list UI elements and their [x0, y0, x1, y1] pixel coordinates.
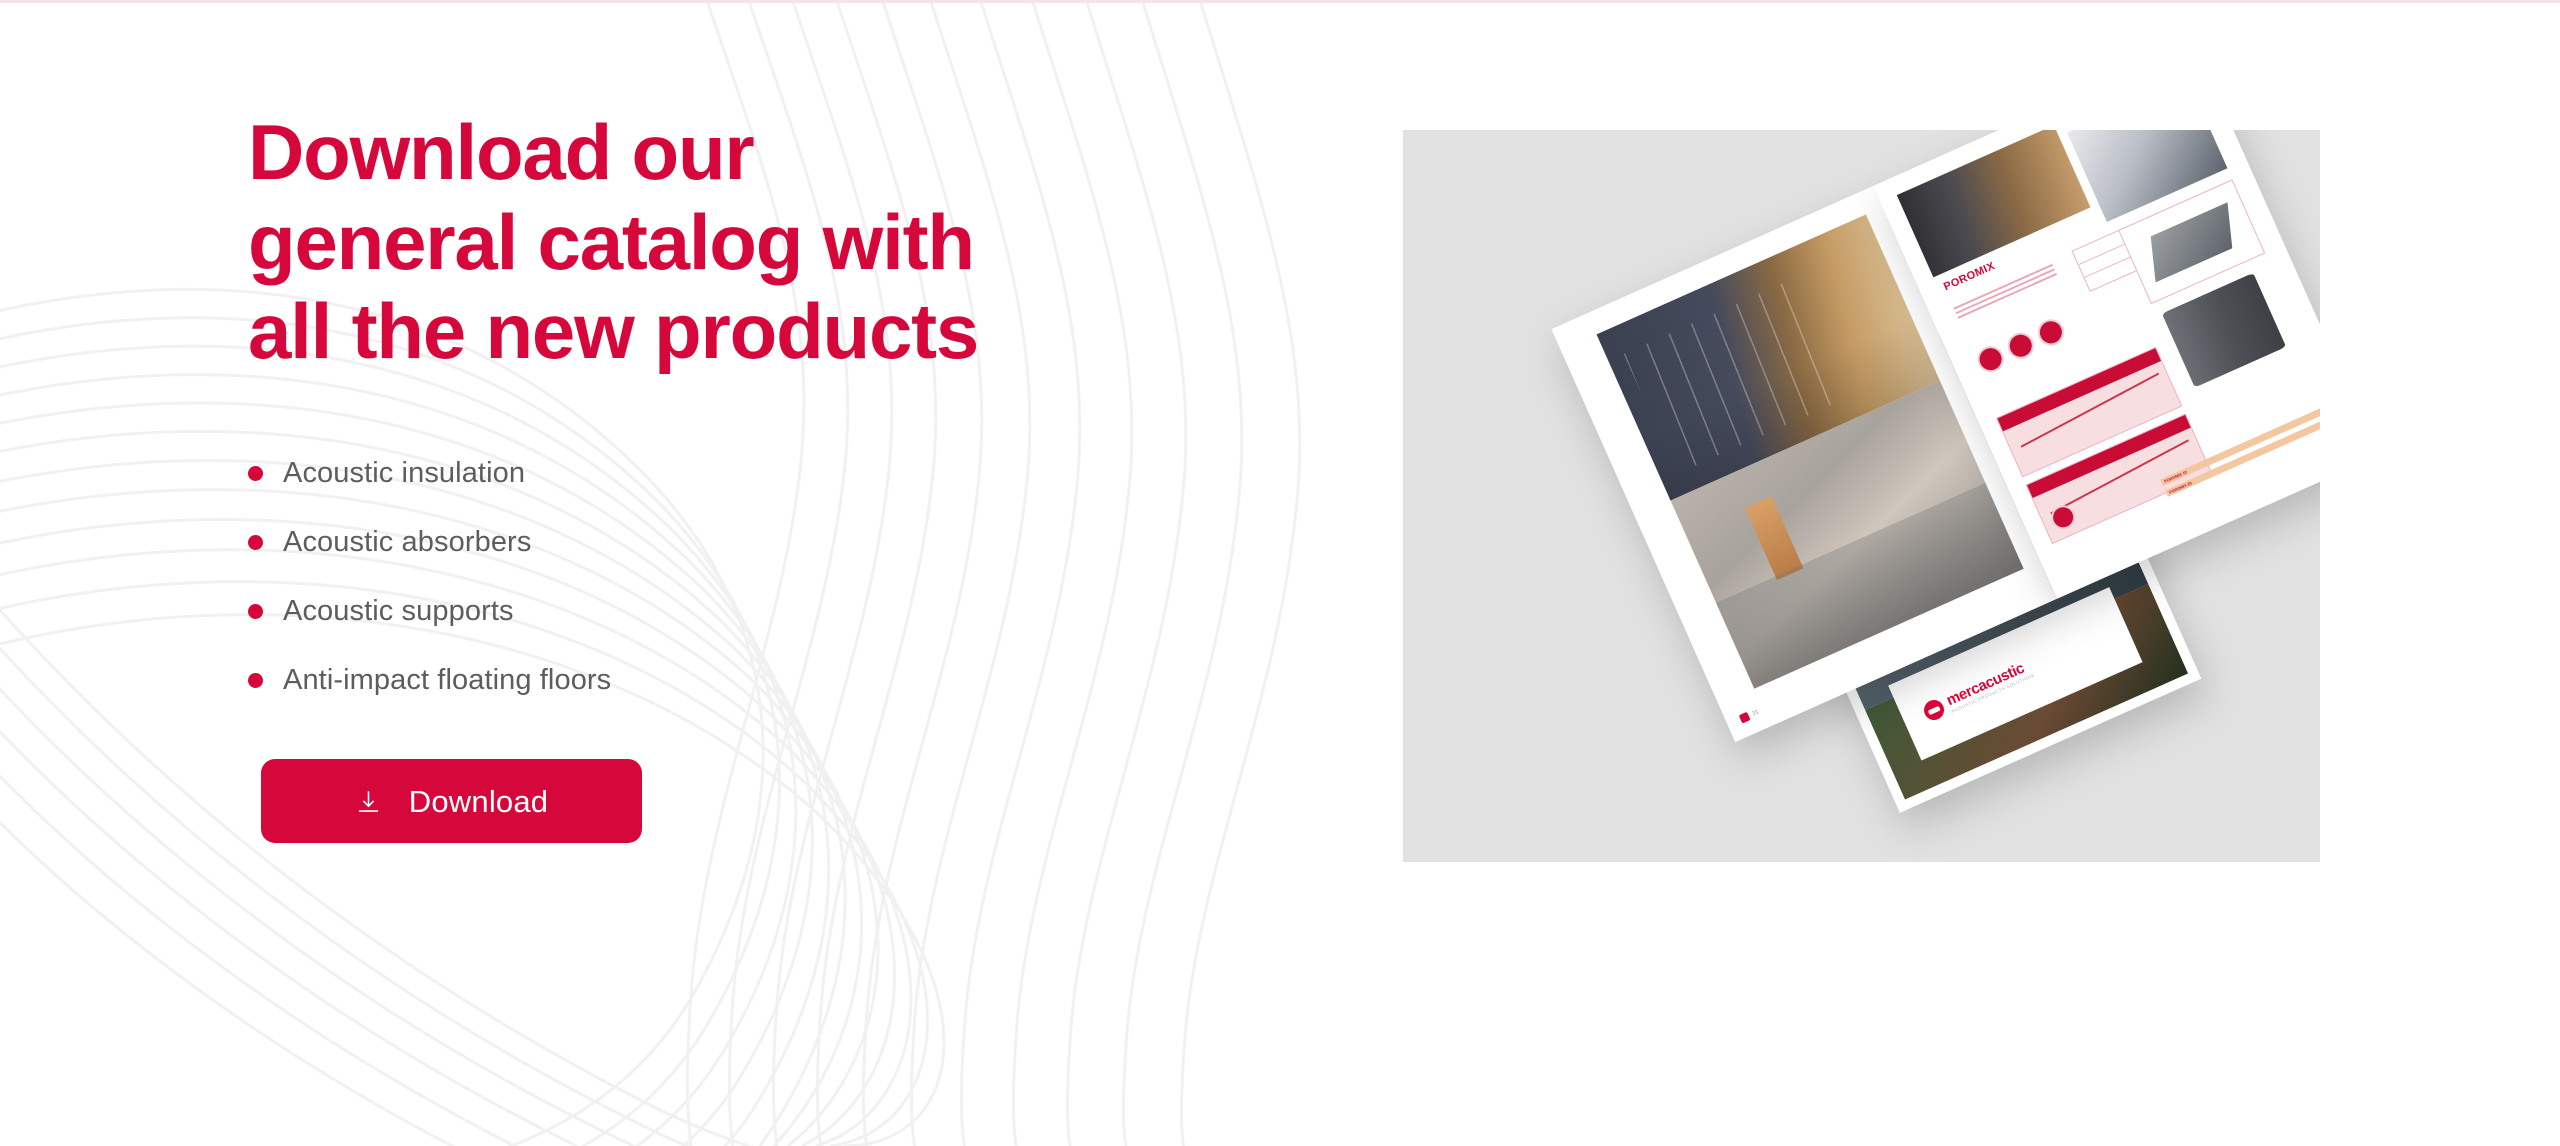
product-spec-lines [1953, 257, 2074, 322]
folio-number: 31 [1751, 709, 1760, 717]
recycle-icon [2034, 315, 2068, 349]
list-item: Acoustic absorbers [248, 508, 1168, 577]
certification-icon-group [1973, 315, 2068, 376]
photo-panel-layers [1896, 130, 2090, 277]
list-item: Acoustic insulation [248, 439, 1168, 508]
folio-badge-icon [1739, 712, 1751, 724]
list-item-label: Acoustic insulation [283, 459, 525, 488]
rating-bar-label: POROMIX 20 [2168, 480, 2192, 495]
bullet-dot-icon [248, 673, 263, 688]
download-button[interactable]: Download [261, 759, 642, 843]
bullet-dot-icon [248, 604, 263, 619]
mercacustic-logo-icon [1921, 697, 1947, 723]
top-hairline-divider [0, 0, 2560, 3]
list-item: Anti-impact floating floors [248, 646, 1168, 715]
bullet-dot-icon [248, 535, 263, 550]
download-button-label: Download [409, 786, 548, 817]
hero-text-column: Download our general catalog with all th… [248, 108, 1168, 843]
list-item-label: Acoustic absorbers [283, 528, 531, 557]
list-item-label: Acoustic supports [283, 597, 514, 626]
feature-list: Acoustic insulation Acoustic absorbers A… [248, 439, 1168, 715]
download-icon [355, 788, 382, 815]
list-item-label: Anti-impact floating floors [283, 666, 611, 695]
chart-title-bar [1997, 348, 2161, 431]
mockup-stage: mercacustic ACOUSTIC PRODUCTS SOLUTIONS [1403, 130, 2320, 862]
catalog-book: mercacustic ACOUSTIC PRODUCTS SOLUTIONS [1403, 130, 2320, 862]
fire-rating-icon [1973, 342, 2007, 376]
catalog-mockup-image: mercacustic ACOUSTIC PRODUCTS SOLUTIONS [1403, 130, 2320, 862]
landing-page-section: Download our general catalog with all th… [0, 0, 2560, 1146]
hand-touch-icon [2003, 329, 2037, 363]
list-item: Acoustic supports [248, 577, 1168, 646]
page-folio: 31 [1739, 708, 1761, 724]
bullet-dot-icon [248, 466, 263, 481]
page-title: Download our general catalog with all th… [248, 108, 1168, 377]
section-content: Download our general catalog with all th… [0, 0, 2560, 1146]
brand-logo-text: mercacustic ACOUSTIC PRODUCTS SOLUTIONS [1944, 657, 2035, 713]
